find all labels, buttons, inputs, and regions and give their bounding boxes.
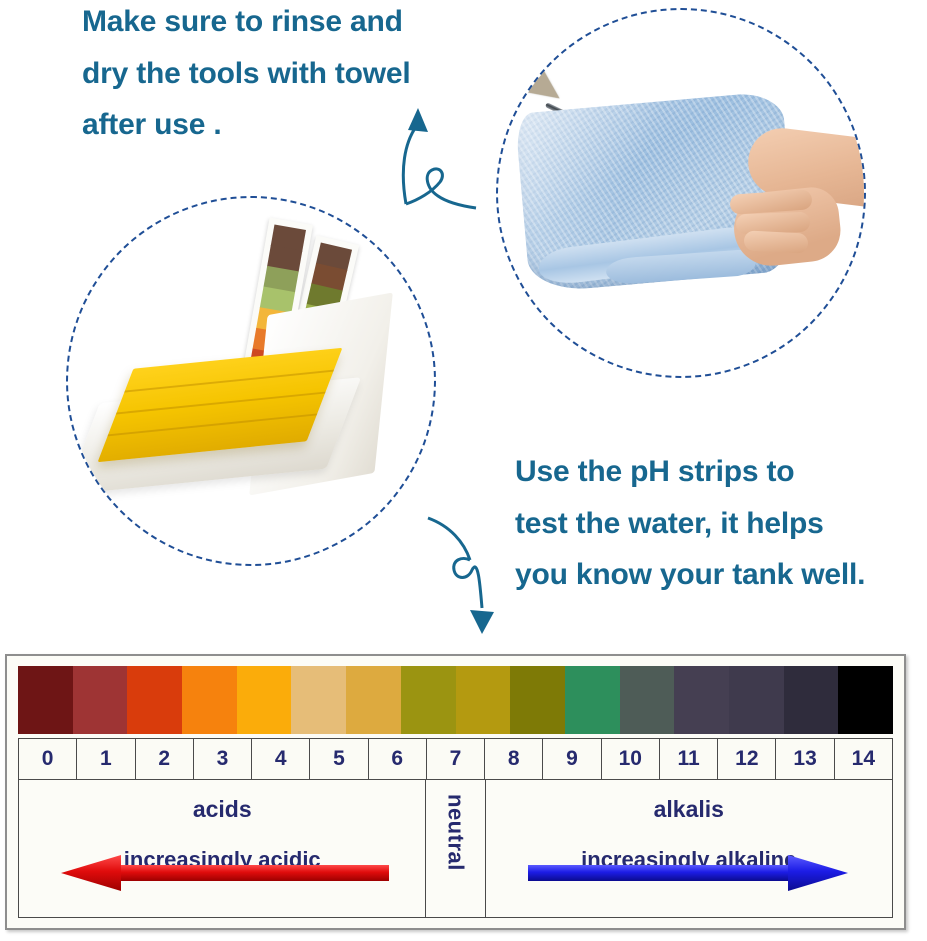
neutral-label: neutral (443, 794, 469, 871)
ph-number-cell: 14 (835, 739, 892, 779)
increasingly-acidic-arrow (61, 855, 391, 891)
acids-title: acids (193, 796, 252, 823)
ph-scale-chart: 0 1 2 3 4 5 6 7 8 9 10 11 12 13 14 acids… (5, 654, 906, 930)
ph-swatch (838, 666, 893, 734)
ph-number-cell: 12 (718, 739, 776, 779)
ph-color-swatch-bar (18, 666, 893, 734)
ph-swatch (674, 666, 729, 734)
ph-swatch (456, 666, 511, 734)
ph-swatch (237, 666, 292, 734)
ph-swatch (729, 666, 784, 734)
ph-strips-scene (68, 198, 434, 564)
ph-number-cell: 0 (19, 739, 77, 779)
ph-swatch (182, 666, 237, 734)
ph-number-cell: 6 (369, 739, 427, 779)
acids-region: acids increasingly acidic (19, 780, 426, 917)
arrow-to-towel-photo (396, 96, 516, 206)
towel-photo (496, 8, 866, 378)
finger (744, 230, 809, 253)
ph-swatch (565, 666, 620, 734)
alkalis-region: alkalis increasingly alkaline (486, 780, 892, 917)
ph-number-row: 0 1 2 3 4 5 6 7 8 9 10 11 12 13 14 (18, 738, 893, 780)
ph-swatch (127, 666, 182, 734)
towel-photo-scene (498, 10, 864, 376)
ph-swatch (401, 666, 456, 734)
ph-swatch (784, 666, 839, 734)
ph-swatch (18, 666, 73, 734)
ph-strips-photo (66, 196, 436, 566)
ph-number-cell: 3 (194, 739, 252, 779)
alkalis-title: alkalis (654, 796, 724, 823)
ph-number-cell: 4 (252, 739, 310, 779)
ph-swatch (620, 666, 675, 734)
ph-swatch (510, 666, 565, 734)
ph-strips-instruction-text: Use the pH strips to test the water, it … (515, 446, 925, 601)
ph-swatch (291, 666, 346, 734)
ph-number-cell: 7 (427, 739, 485, 779)
ph-number-cell: 5 (310, 739, 368, 779)
ph-number-cell: 11 (660, 739, 718, 779)
ph-region-row: acids increasingly acidic neutral alkali… (18, 780, 893, 918)
arrow-to-chart (424, 512, 544, 642)
ph-swatch (73, 666, 128, 734)
ph-number-cell: 8 (485, 739, 543, 779)
ph-number-cell: 9 (543, 739, 601, 779)
ph-swatch (346, 666, 401, 734)
ph-number-cell: 10 (602, 739, 660, 779)
increasingly-alkaline-arrow (528, 855, 848, 891)
neutral-region: neutral (426, 780, 485, 917)
ph-number-cell: 13 (776, 739, 834, 779)
ph-number-cell: 1 (77, 739, 135, 779)
ph-number-cell: 2 (136, 739, 194, 779)
